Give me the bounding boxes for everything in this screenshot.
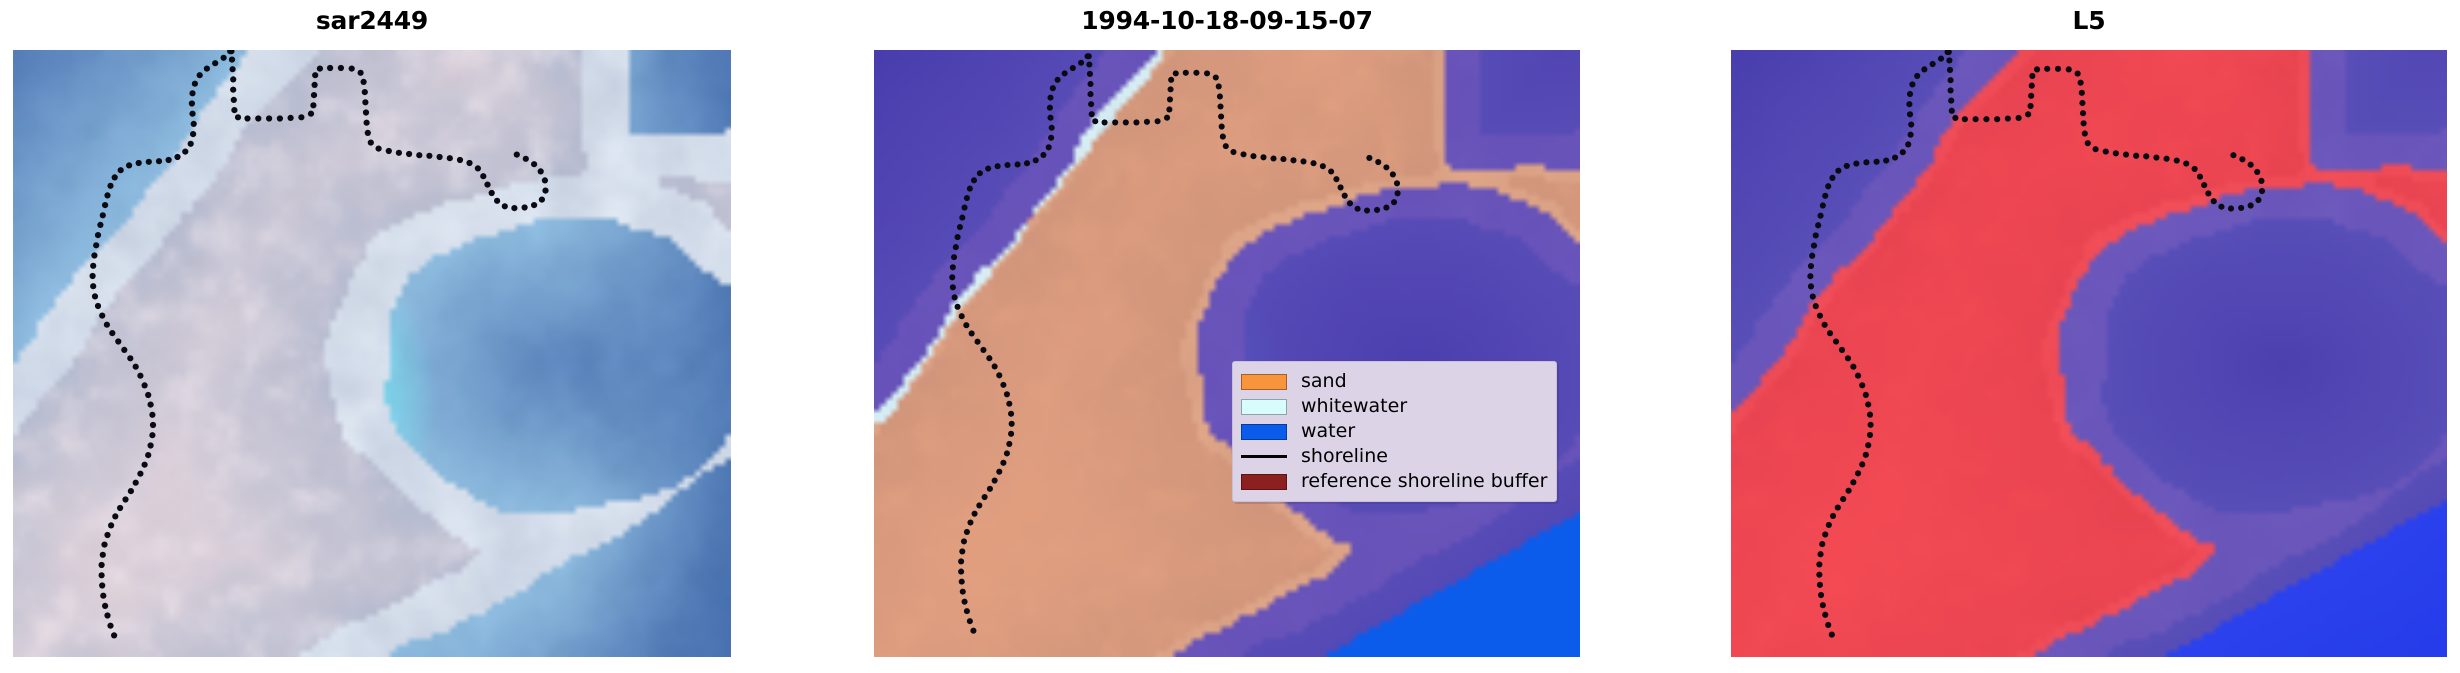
water-swatch-icon xyxy=(1241,424,1287,440)
legend-item-sand[interactable]: sand xyxy=(1241,369,1547,394)
legend-label-shoreline: shoreline xyxy=(1301,447,1388,466)
legend-item-whitewater[interactable]: whitewater xyxy=(1241,394,1547,419)
shoreline-line-icon xyxy=(1241,455,1287,458)
raster-classified xyxy=(874,50,1580,657)
reference-buffer-swatch-icon xyxy=(1241,474,1287,490)
legend-item-reference-buffer[interactable]: reference shoreline buffer xyxy=(1241,469,1547,494)
legend-label-whitewater: whitewater xyxy=(1301,397,1407,416)
raster-rgb xyxy=(13,50,731,657)
axes-rgb[interactable] xyxy=(13,50,731,657)
panel-title-1: sar2449 xyxy=(13,6,731,35)
legend-label-sand: sand xyxy=(1301,372,1347,391)
figure-canvas: sar2449 1994-10-18-09-15-07 sand xyxy=(0,0,2460,673)
legend-label-water: water xyxy=(1301,422,1355,441)
panel-classified: 1994-10-18-09-15-07 sand whitewater wate… xyxy=(874,0,1580,673)
axes-classified[interactable]: sand whitewater water shoreline referenc… xyxy=(874,50,1580,657)
panel-title-2: 1994-10-18-09-15-07 xyxy=(874,6,1580,35)
legend-label-reference-buffer: reference shoreline buffer xyxy=(1301,472,1547,491)
legend-item-water[interactable]: water xyxy=(1241,419,1547,444)
legend-item-shoreline[interactable]: shoreline xyxy=(1241,444,1547,469)
panel-sar2449: sar2449 xyxy=(13,0,731,673)
legend-box[interactable]: sand whitewater water shoreline referenc… xyxy=(1232,361,1557,502)
panel-l5: L5 xyxy=(1731,0,2447,673)
raster-l5 xyxy=(1731,50,2447,657)
whitewater-swatch-icon xyxy=(1241,399,1287,415)
panel-title-3: L5 xyxy=(1731,6,2447,35)
axes-l5[interactable] xyxy=(1731,50,2447,657)
sand-swatch-icon xyxy=(1241,374,1287,390)
